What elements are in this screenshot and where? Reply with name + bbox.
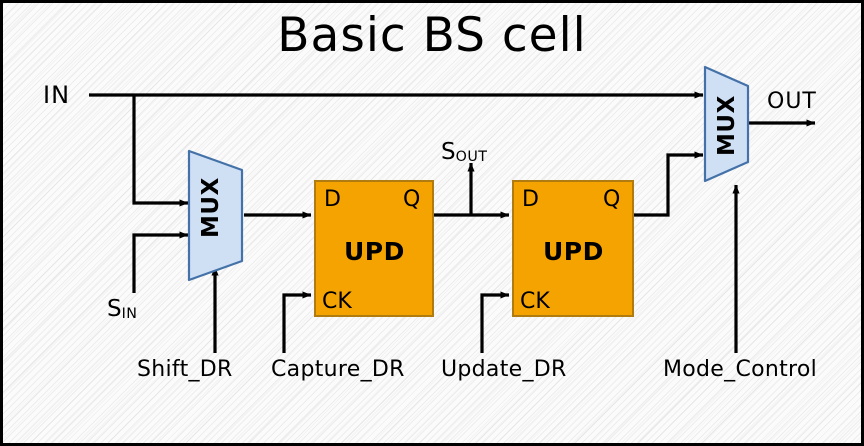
ff-capture-pin-q: Q xyxy=(403,189,420,211)
control-label-mode-control: Mode_Control xyxy=(663,359,817,381)
port-label-s-out: SOUT xyxy=(441,141,487,164)
port-label-s-out-base: S xyxy=(441,139,456,165)
ff-update-pin-d: D xyxy=(522,189,539,211)
mux-left-label: MUX xyxy=(198,178,224,238)
ff-update-pin-ck: CK xyxy=(520,291,550,313)
diagram-canvas: Basic BS cell xyxy=(0,0,864,446)
port-label-s-out-sub: OUT xyxy=(456,149,488,165)
ff-capture-pin-d: D xyxy=(324,189,341,211)
ff-update-label: UPD xyxy=(543,239,604,264)
port-label-s-in: SIN xyxy=(107,298,137,321)
wire-sin-to-mux-left xyxy=(134,235,188,293)
wire-capturedr-to-ff1-ck xyxy=(284,295,311,353)
wire-ff2-q-to-mux-right xyxy=(633,155,703,215)
control-label-shift-dr: Shift_DR xyxy=(137,359,233,381)
ff-capture-pin-ck: CK xyxy=(322,291,352,313)
port-label-out: OUT xyxy=(767,91,817,113)
port-label-s-in-base: S xyxy=(107,296,122,322)
ff-update-pin-q: Q xyxy=(603,189,620,211)
port-label-s-in-sub: IN xyxy=(122,306,138,322)
control-label-update-dr: Update_DR xyxy=(441,359,567,381)
control-label-capture-dr: Capture_DR xyxy=(271,359,405,381)
wire-updatedr-to-ff2-ck xyxy=(482,295,509,353)
port-label-in: IN xyxy=(43,83,70,107)
mux-right-label: MUX xyxy=(714,96,740,156)
wire-in-branch-to-mux-left xyxy=(134,95,188,203)
ff-capture-label: UPD xyxy=(344,239,405,264)
